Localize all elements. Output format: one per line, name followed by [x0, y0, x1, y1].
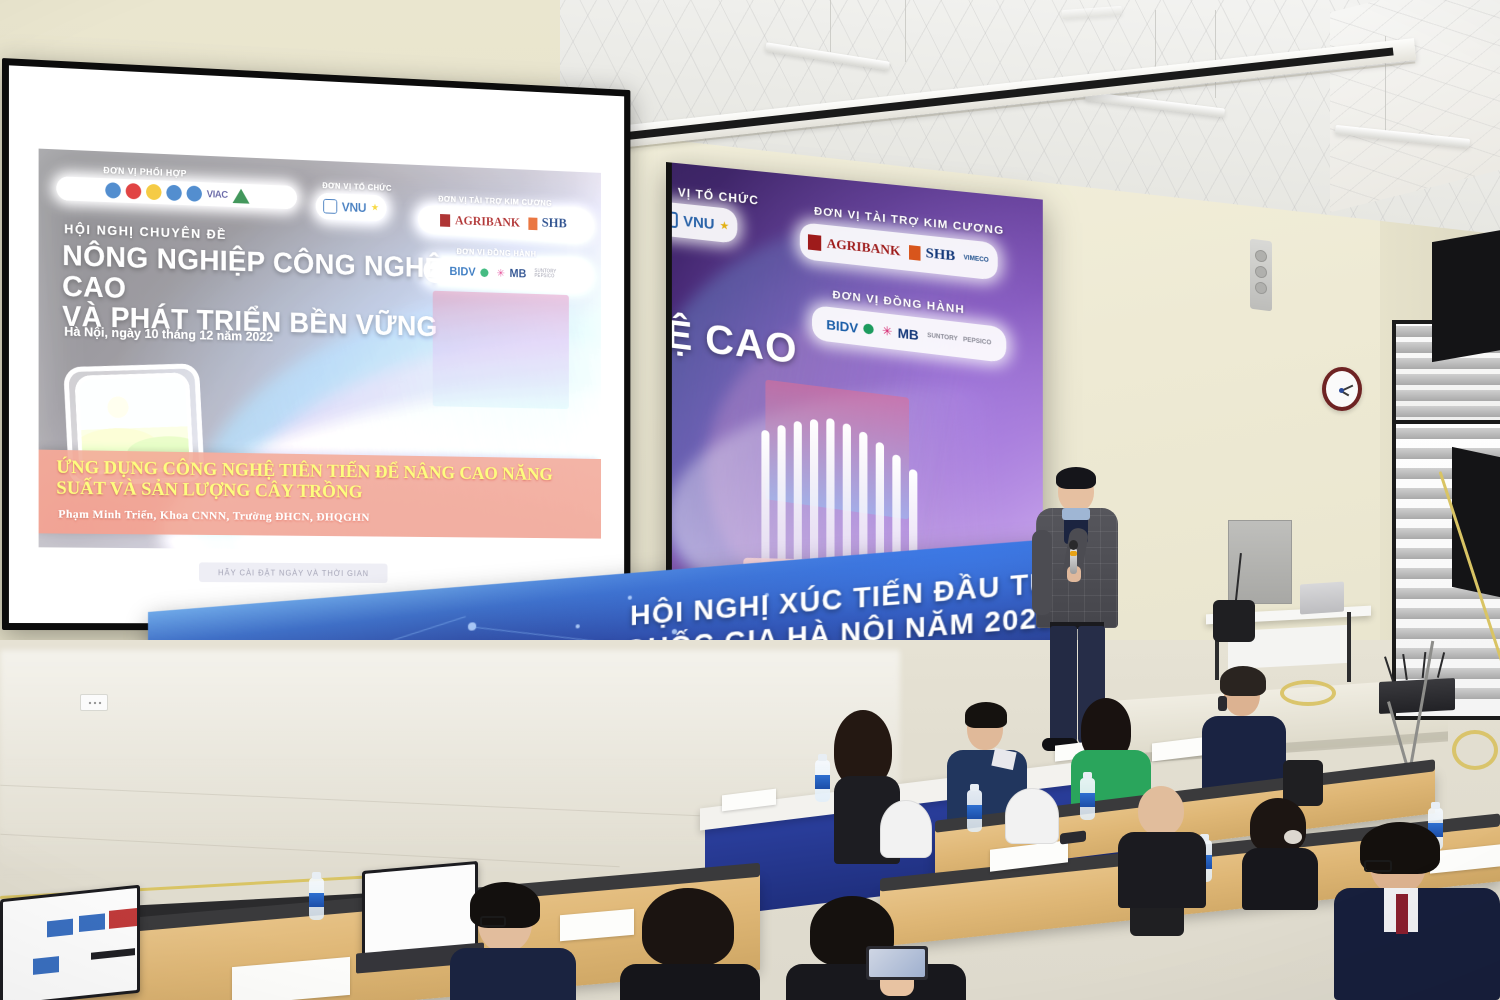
bottle-label-6 [309, 893, 324, 907]
slide-talk-title: ỨNG DỤNG CÔNG NGHỆ TIÊN TIẾN ĐỂ NÂNG CAO… [56, 457, 592, 506]
shb-mark [528, 217, 537, 230]
tech-area-chair[interactable] [1213, 600, 1255, 642]
laptop-left-progressbar [91, 948, 135, 960]
wall-outlet [80, 694, 108, 711]
partner-logo-5 [187, 185, 202, 201]
chair-cover-2[interactable] [1005, 788, 1059, 844]
bottle-label-1 [815, 775, 830, 789]
clock-center-dot [1339, 388, 1344, 393]
audience-hair-4 [1220, 666, 1266, 696]
blind-slat-1 [1396, 428, 1500, 439]
bottle-label-3 [1080, 793, 1095, 807]
led-sponsor-vimeco: VIMECO [964, 255, 989, 264]
sponsor-agribank: AGRIBANK [455, 213, 520, 231]
fg-body-2 [620, 964, 760, 1000]
handheld-microphone [1070, 548, 1077, 574]
led-sponsor-bidv: BIDV [826, 316, 858, 335]
bidv-flower-icon [480, 268, 488, 277]
tech-table-leg-2 [1347, 612, 1351, 682]
partner-logo-4 [166, 185, 181, 201]
laptop-left-slide-thumb-2 [79, 913, 105, 932]
blind-slat-u5 [1396, 390, 1500, 401]
fg-glasses-1 [480, 916, 506, 927]
led-sponsor-suntory: SUNTORY [927, 333, 958, 343]
laptop-left[interactable] [0, 885, 140, 1000]
mb-star-icon: ✳ [497, 266, 505, 279]
laptop-left-display [3, 888, 137, 1000]
fg-body-1 [450, 948, 576, 1000]
partner-logo-1 [105, 182, 121, 198]
viac-logo: VIAC [207, 189, 228, 201]
slide-companion-caption: ĐƠN VỊ ĐỒNG HÀNH [457, 247, 537, 258]
partner-logo-2 [126, 183, 142, 199]
foreground-person-1 [448, 890, 578, 1000]
slide-organizer-logo: VNU [342, 200, 366, 215]
smartphone-recording[interactable] [866, 946, 928, 980]
macbook-laptop[interactable] [1300, 581, 1344, 614]
foreground-person-photographer [780, 900, 970, 1000]
audience-hair-6 [1250, 798, 1306, 852]
laptop-left-slide-thumb-4 [33, 956, 59, 975]
presenter-arm-left [1032, 530, 1052, 615]
fg-glasses-4 [1364, 860, 1392, 872]
presenter-collar [1062, 508, 1090, 520]
blind-slat-u3 [1396, 358, 1500, 369]
led-sponsor-shb: SHB [926, 246, 955, 266]
led-shb-mark [909, 245, 921, 261]
audience-body-5 [1118, 832, 1206, 908]
water-bottle-3[interactable] [1080, 778, 1095, 820]
slide-organizer-chip: VNU ★ [316, 193, 387, 222]
water-bottle-6[interactable] [309, 878, 324, 920]
microphone-head [1069, 540, 1078, 550]
foreground-person-suit-right [1330, 832, 1500, 1000]
blind-slat-u4 [1396, 374, 1500, 385]
wall-display-lower [1452, 447, 1500, 597]
speaker-cone-3 [1255, 281, 1267, 294]
speaker-cone-1 [1255, 249, 1267, 262]
led-bidv-flower-icon [863, 323, 873, 334]
led-sponsor-agribank: AGRIBANK [827, 235, 901, 259]
audience-person-ponytail [1238, 800, 1322, 910]
sponsor-shb: SHB [542, 216, 567, 232]
sponsor-mb: MB [509, 266, 526, 280]
wall-clock [1322, 367, 1362, 411]
light-rod-2 [905, 0, 906, 62]
slide-date-placeholder: HÃY CÀI ĐẶT NGÀY VÀ THỜI GIAN [199, 562, 387, 583]
slide-talk-band: ỨNG DỤNG CÔNG NGHỆ TIÊN TIẾN ĐỂ NÂNG CAO… [39, 450, 601, 539]
audience-person-bald [1118, 786, 1208, 906]
light-rod-4 [1215, 10, 1216, 98]
audience-scrunchie [1284, 830, 1302, 844]
light-rod-1 [830, 0, 831, 52]
slide-building-body [433, 291, 569, 409]
bottle-label-2 [967, 805, 982, 819]
led-vnu-star-icon: ★ [719, 218, 729, 232]
slide-talk-author: Phạm Minh Triển, Khoa CNNN, Trường ĐHCN,… [58, 507, 369, 525]
partner-logo-3 [146, 184, 161, 200]
audience-hair-2 [965, 702, 1007, 728]
smartphone-screen [869, 949, 925, 977]
fg-tie-4 [1396, 894, 1408, 934]
slide-partners-caption: ĐƠN VỊ PHỐI HỢP [103, 165, 187, 178]
wall-display-upper [1432, 230, 1500, 362]
led-mb-star-icon: ✳ [882, 323, 892, 339]
water-bottle-2[interactable] [967, 790, 982, 832]
blind-slat-u6 [1396, 406, 1500, 417]
slide-image-sun-icon [107, 396, 129, 418]
slide-diamond-caption: ĐƠN VỊ TÀI TRỢ KIM CƯƠNG [438, 195, 552, 208]
led-vnu-mark [666, 211, 678, 229]
microphone-band [1070, 551, 1077, 556]
projected-slide: ĐƠN VỊ PHỐI HỢP VIAC ĐƠN VỊ TỔ CHỨC VNU … [39, 149, 601, 552]
led-sponsor-pepsico: PEPSICO [963, 337, 991, 347]
blind-slat-12 [1396, 648, 1500, 659]
led-sponsor-mb: MB [898, 325, 919, 343]
agribank-mark [440, 214, 450, 227]
vnu-mark [323, 199, 337, 214]
foreground-person-2 [620, 898, 760, 1000]
laptop-left-slide-thumb-1 [47, 919, 73, 938]
led-organizer-chip: VNU ★ [666, 201, 737, 244]
yellow-cable-coil-2 [1452, 730, 1498, 770]
led-building-body [765, 380, 909, 520]
led-agribank-mark [808, 234, 821, 251]
slide-partners-chip: VIAC [56, 176, 297, 209]
blind-slat-11 [1396, 628, 1500, 639]
vnu-star-icon: ★ [371, 203, 379, 214]
wall-speaker [1250, 239, 1272, 312]
slide-diamond-chip: AGRIBANK SHB [418, 205, 589, 238]
conference-room-photo: ĐƠN VỊ PHỐI HỢP VIAC ĐƠN VỊ TỔ CHỨC VNU … [0, 0, 1500, 1000]
slide-kicker: HỘI NGHỊ CHUYÊN ĐỀ [64, 221, 227, 242]
projection-screen: ĐƠN VỊ PHỐI HỢP VIAC ĐƠN VỊ TỔ CHỨC VNU … [2, 58, 630, 631]
outlet-sockets-icon [88, 701, 102, 705]
audience-head-5 [1138, 786, 1184, 836]
slide-organizer-caption: ĐƠN VỊ TỔ CHỨC [322, 181, 392, 193]
led-organizer-logo: VNU [683, 212, 714, 232]
presenter-hair [1056, 467, 1096, 489]
sponsor-suntory-pepsico: SUNTORY PEPSICO [534, 269, 561, 280]
water-bottle-1[interactable] [815, 760, 830, 802]
fg-hair-2 [642, 888, 734, 966]
audience-body-6 [1242, 848, 1318, 910]
partner-logo-7 [232, 188, 249, 203]
chair-cover-1[interactable] [880, 800, 932, 858]
mobile-phone-held[interactable] [1218, 696, 1227, 711]
speaker-cone-2 [1255, 265, 1267, 278]
laptop-left-slide-thumb-3 [109, 908, 137, 929]
